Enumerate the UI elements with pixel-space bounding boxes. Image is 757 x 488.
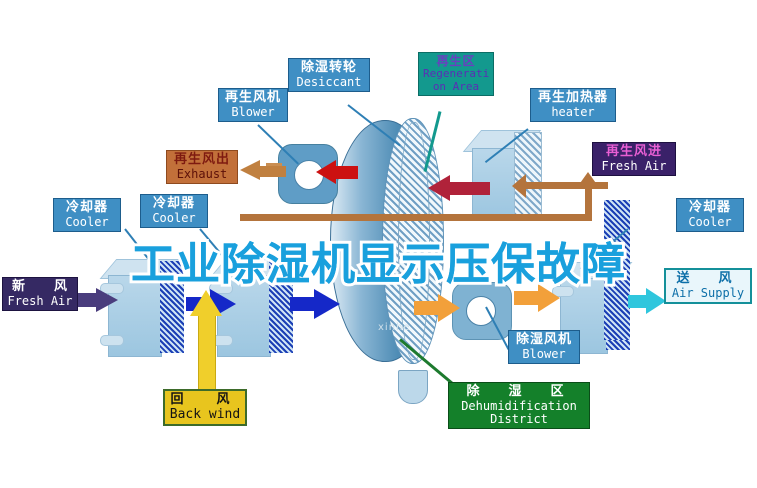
label-regeneration-area-en2: on Area [423,81,489,93]
regen-duct-arrowhead-left [512,174,526,198]
label-regen-heater[interactable]: 再生加热器 heater [530,88,616,122]
label-regen-heater-en: heater [535,106,611,119]
label-regeneration-area-cn: 再生区 [423,55,489,68]
label-regen-blower-en: Blower [223,106,283,119]
label-cooler-left-2[interactable]: 冷却器 Cooler [140,194,208,228]
regen-duct-vertical [585,182,592,218]
condensate-drip [398,370,428,404]
label-cooler-left-2-en: Cooler [145,212,203,225]
label-dehum-district[interactable]: 除 湿 区 Dehumidification District [448,382,590,429]
label-regeneration-area[interactable]: 再生区 Regenerati on Area [418,52,494,96]
watermark: xinhe [378,322,411,333]
label-dehum-blower-cn: 除湿风机 [513,333,575,348]
label-cooler-left-1[interactable]: 冷却器 Cooler [53,198,121,232]
label-dehum-district-cn: 除 湿 区 [453,385,585,400]
label-regen-fresh-air-en: Fresh Air [597,160,671,173]
label-desiccant[interactable]: 除湿转轮 Desiccant [288,58,370,92]
label-regen-fresh-air-cn: 再生风进 [597,145,671,160]
diagram-canvas: xinhe [0,0,757,488]
label-cooler-right[interactable]: 冷却器 Cooler [676,198,744,232]
page-title: 工业除湿机显示压保故障 [0,228,757,292]
label-dehum-blower-en: Blower [513,348,575,361]
regen-duct-horizontal-bottom [240,214,592,221]
label-regen-heater-cn: 再生加热器 [535,91,611,106]
label-desiccant-cn: 除湿转轮 [293,61,365,76]
label-regen-fresh-air[interactable]: 再生风进 Fresh Air [592,142,676,176]
label-back-wind-en: Back wind [169,408,241,423]
label-cooler-right-cn: 冷却器 [681,201,739,216]
label-cooler-left-1-cn: 冷却器 [58,201,116,216]
label-cooler-left-1-en: Cooler [58,216,116,229]
label-fresh-air-in-en: Fresh Air [7,295,73,308]
label-regeneration-area-en1: Regenerati [423,68,489,80]
label-exhaust-en: Exhaust [171,168,233,181]
cooler-1-pipe-bottom [100,335,124,346]
label-exhaust-cn: 再生风出 [171,153,233,168]
label-cooler-left-2-cn: 冷却器 [145,197,203,212]
label-desiccant-en: Desiccant [293,76,365,89]
label-regen-blower[interactable]: 再生风机 Blower [218,88,288,122]
label-dehum-district-en1: Dehumidification [453,400,585,413]
label-cooler-right-en: Cooler [681,216,739,229]
label-back-wind-cn: 回 风 [169,393,241,408]
label-back-wind[interactable]: 回 风 Back wind [163,389,247,426]
label-exhaust[interactable]: 再生风出 Exhaust [166,150,238,184]
label-dehum-district-en2: District [453,413,585,426]
dehum-blower-hub [466,296,496,326]
label-regen-blower-cn: 再生风机 [223,91,283,106]
label-dehum-blower[interactable]: 除湿风机 Blower [508,330,580,364]
